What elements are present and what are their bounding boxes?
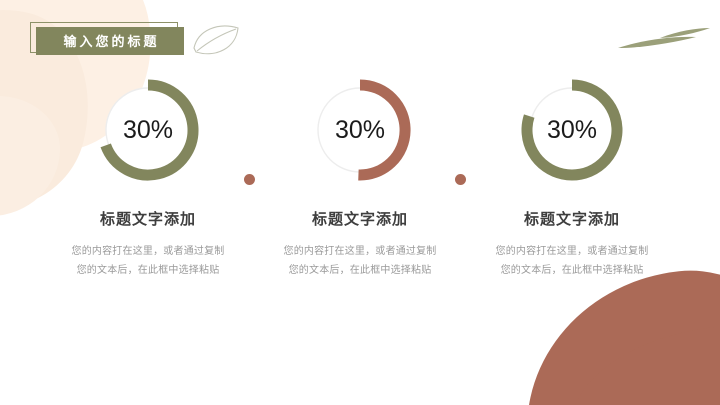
leaf-stroke-icon bbox=[616, 18, 712, 58]
slide-canvas: 输入您的标题 30% 标题文字添加 您的内容打在这里， bbox=[0, 0, 720, 405]
column-heading-3: 标题文字添加 bbox=[524, 208, 620, 229]
column-heading-2: 标题文字添加 bbox=[312, 208, 408, 229]
column-heading-1: 标题文字添加 bbox=[100, 208, 196, 229]
terracotta-blob-bottom-right-secondary bbox=[570, 325, 720, 405]
leaf-outline-icon bbox=[190, 18, 244, 60]
donut-value-1: 30% bbox=[96, 78, 200, 182]
stat-column-2: 30% 标题文字添加 您的内容打在这里，或者通过复制您的文本后，在此框中选择粘贴 bbox=[254, 78, 466, 280]
slide-title: 输入您的标题 bbox=[30, 22, 180, 55]
stat-column-3: 30% 标题文字添加 您的内容打在这里，或者通过复制您的文本后，在此框中选择粘贴 bbox=[466, 78, 678, 280]
donut-chart-3: 30% bbox=[520, 78, 624, 182]
column-body-1: 您的内容打在这里，或者通过复制您的文本后，在此框中选择粘贴 bbox=[68, 242, 228, 280]
donut-chart-2: 30% bbox=[308, 78, 412, 182]
stats-columns: 30% 标题文字添加 您的内容打在这里，或者通过复制您的文本后，在此框中选择粘贴… bbox=[0, 78, 720, 280]
title-label: 输入您的标题 bbox=[60, 35, 159, 48]
donut-chart-1: 30% bbox=[96, 78, 200, 182]
stat-column-1: 30% 标题文字添加 您的内容打在这里，或者通过复制您的文本后，在此框中选择粘贴 bbox=[42, 78, 254, 280]
column-body-2: 您的内容打在这里，或者通过复制您的文本后，在此框中选择粘贴 bbox=[280, 242, 440, 280]
terracotta-blob-bottom-right bbox=[512, 259, 720, 405]
donut-value-2: 30% bbox=[308, 78, 412, 182]
donut-value-3: 30% bbox=[520, 78, 624, 182]
title-badge: 输入您的标题 bbox=[36, 27, 184, 55]
column-body-3: 您的内容打在这里，或者通过复制您的文本后，在此框中选择粘贴 bbox=[492, 242, 652, 280]
